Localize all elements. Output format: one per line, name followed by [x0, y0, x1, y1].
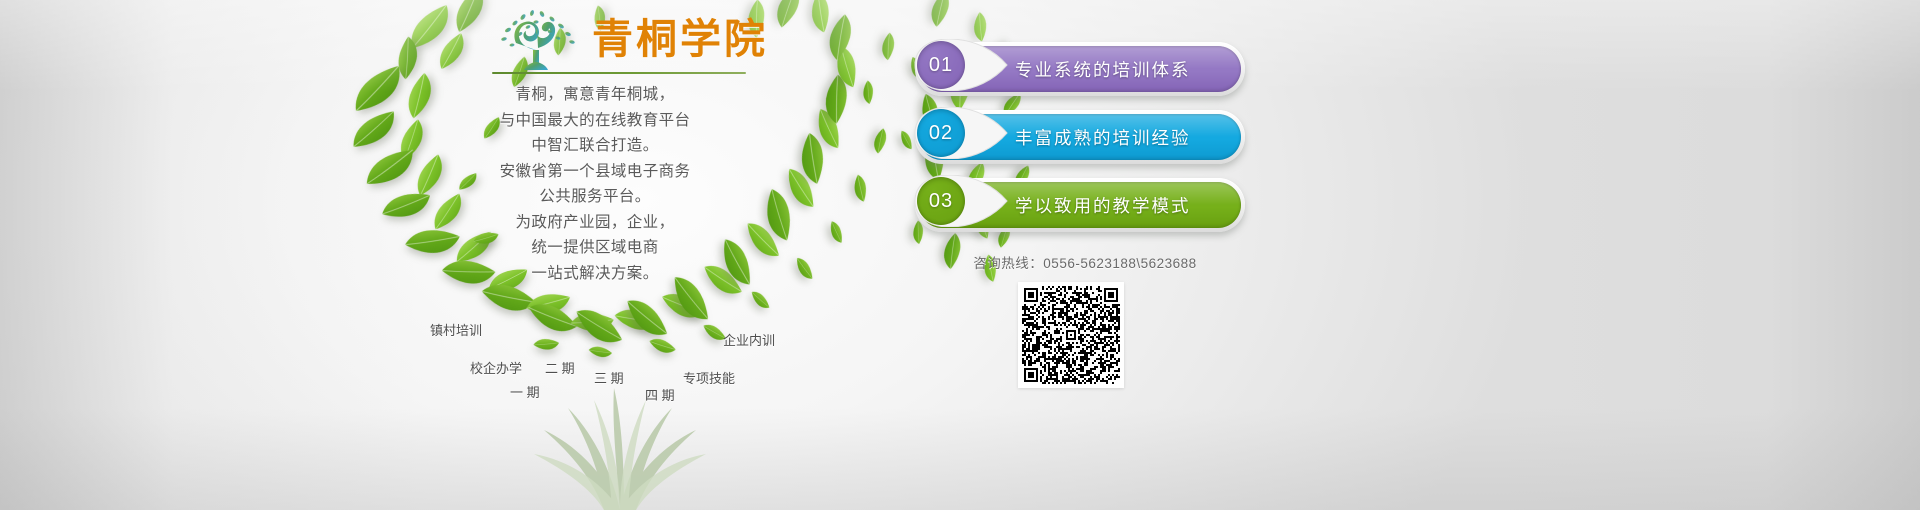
leaf-icon — [381, 189, 431, 223]
grass-label: 镇村培训 — [430, 320, 482, 339]
brand-divider — [492, 72, 746, 74]
grass-label: 校企办学 — [470, 358, 522, 377]
grass-label: 三 期 — [594, 368, 624, 387]
feature-label: 专业系统的培训体系 — [1015, 46, 1227, 92]
grass-label: 一 期 — [510, 382, 540, 401]
tree-icon — [490, 8, 582, 70]
hotline-text: 咨询热线：0556-5623188\5623688 — [915, 252, 1255, 272]
leaf-icon — [967, 10, 993, 42]
feature-pill[interactable]: 专业系统的培训体系01 — [915, 42, 1245, 96]
leaf-icon — [875, 31, 902, 62]
description-line: 中智汇联合打造。 — [430, 133, 760, 159]
grass-label: 专项技能 — [683, 368, 735, 387]
brand-block: 青桐学院 青桐，寓意青年桐城，与中国最大的在线教育平台中智汇联合打造。安徽省第一… — [430, 0, 790, 510]
leaf-icon — [867, 126, 894, 154]
brand-description: 青桐，寓意青年桐城，与中国最大的在线教育平台中智汇联合打造。安徽省第一个县域电子… — [430, 82, 760, 286]
description-line: 为政府产业园，企业， — [430, 210, 760, 236]
qr-code — [1018, 282, 1124, 388]
leaf-icon — [857, 79, 878, 105]
leaf-icon — [829, 221, 844, 243]
grass-label: 二 期 — [545, 358, 575, 377]
feature-pill[interactable]: 学以致用的教学模式03 — [915, 178, 1245, 232]
leaf-icon — [921, 0, 959, 28]
feature-label: 丰富成熟的培训经验 — [1015, 114, 1227, 160]
feature-pill[interactable]: 丰富成熟的培训经验02 — [915, 110, 1245, 164]
description-line: 与中国最大的在线教育平台 — [430, 108, 760, 134]
feature-list: 专业系统的培训体系01丰富成熟的培训经验02学以致用的教学模式03 — [915, 42, 1245, 246]
feature-pill-body: 专业系统的培训体系 — [919, 46, 1241, 92]
description-line: 公共服务平台。 — [430, 184, 760, 210]
leaf-icon — [795, 255, 814, 281]
feature-pill-body: 学以致用的教学模式 — [919, 182, 1241, 228]
feature-number: 02 — [917, 109, 965, 157]
logo-row: 青桐学院 — [490, 8, 768, 70]
description-line: 安徽省第一个县域电子商务 — [430, 159, 760, 185]
banner-stage: 镇村培训企业内训校企办学专项技能二 期三 期一 期四 期 — [0, 0, 1920, 510]
description-line: 一站式解决方案。 — [430, 261, 760, 287]
feature-label: 学以致用的教学模式 — [1015, 182, 1227, 228]
grass-label: 四 期 — [645, 385, 675, 404]
description-line: 青桐，寓意青年桐城， — [430, 82, 760, 108]
leaf-icon — [900, 130, 913, 150]
feature-pill-body: 丰富成熟的培训经验 — [919, 114, 1241, 160]
feature-number: 03 — [917, 177, 965, 225]
grass-label: 企业内训 — [723, 330, 775, 349]
description-line: 统一提供区域电商 — [430, 235, 760, 261]
feature-number: 01 — [917, 41, 965, 89]
brand-name: 青桐学院 — [592, 19, 768, 60]
leaf-icon — [849, 173, 871, 202]
